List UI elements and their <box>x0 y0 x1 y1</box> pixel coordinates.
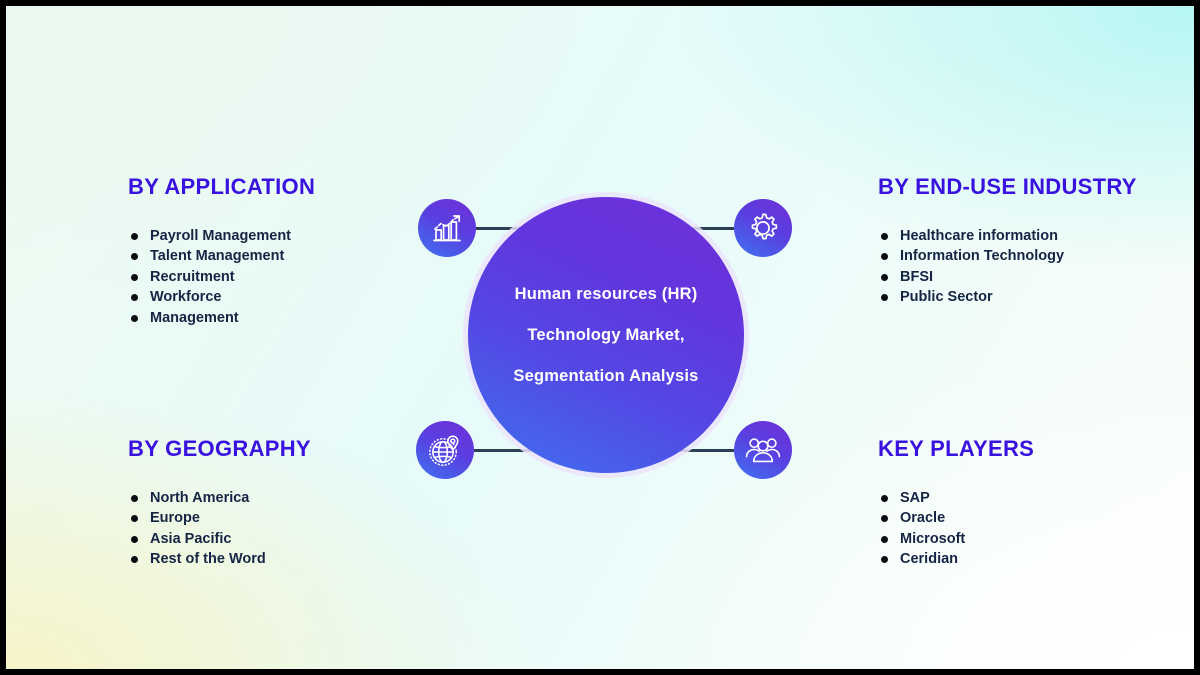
gear-icon <box>746 211 780 245</box>
list-item: Asia Pacific <box>128 529 311 549</box>
list-item: Talent Management <box>128 246 315 266</box>
icon-bubble-geography[interactable] <box>416 421 474 479</box>
quadrant-application: BY APPLICATION Payroll Management Talent… <box>128 174 315 328</box>
list-item: Workforce <box>128 287 315 307</box>
icon-bubble-application[interactable] <box>418 199 476 257</box>
list-item: Oracle <box>878 508 1034 528</box>
list-item: Healthcare information <box>878 226 1137 246</box>
list-item: Payroll Management <box>128 226 315 246</box>
quadrant-geography-list: North America Europe Asia Pacific Rest o… <box>128 488 311 570</box>
list-item: BFSI <box>878 267 1137 287</box>
hub-title-line-2: Technology Market, <box>527 326 684 345</box>
hub-circle: Human resources (HR) Technology Market, … <box>468 197 744 473</box>
quadrant-industry-list: Healthcare information Information Techn… <box>878 226 1137 308</box>
globe-location-pin-icon <box>427 432 463 468</box>
quadrant-application-heading: BY APPLICATION <box>128 174 315 200</box>
list-item: North America <box>128 488 311 508</box>
quadrant-geography: BY GEOGRAPHY North America Europe Asia P… <box>128 436 311 570</box>
icon-bubble-industry[interactable] <box>734 199 792 257</box>
quadrant-industry: BY END-USE INDUSTRY Healthcare informati… <box>878 174 1137 308</box>
list-item: Microsoft <box>878 529 1034 549</box>
quadrant-geography-heading: BY GEOGRAPHY <box>128 436 311 462</box>
people-group-icon <box>745 433 781 467</box>
list-item: Information Technology <box>878 246 1137 266</box>
list-item: SAP <box>878 488 1034 508</box>
quadrant-key-players: KEY PLAYERS SAP Oracle Microsoft Ceridia… <box>878 436 1034 570</box>
list-item: Rest of the Word <box>128 549 311 569</box>
quadrant-industry-heading: BY END-USE INDUSTRY <box>878 174 1137 200</box>
list-item: Management <box>128 308 315 328</box>
hub-title-line-1: Human resources (HR) <box>515 285 698 304</box>
list-item: Public Sector <box>878 287 1137 307</box>
list-item: Ceridian <box>878 549 1034 569</box>
list-item: Recruitment <box>128 267 315 287</box>
bar-chart-growth-icon <box>430 211 464 245</box>
hub-title-line-3: Segmentation Analysis <box>513 367 698 386</box>
quadrant-key-players-list: SAP Oracle Microsoft Ceridian <box>878 488 1034 570</box>
list-item: Europe <box>128 508 311 528</box>
quadrant-application-list: Payroll Management Talent Management Rec… <box>128 226 315 328</box>
icon-bubble-key-players[interactable] <box>734 421 792 479</box>
quadrant-key-players-heading: KEY PLAYERS <box>878 436 1034 462</box>
infographic-canvas: Human resources (HR) Technology Market, … <box>6 6 1194 669</box>
